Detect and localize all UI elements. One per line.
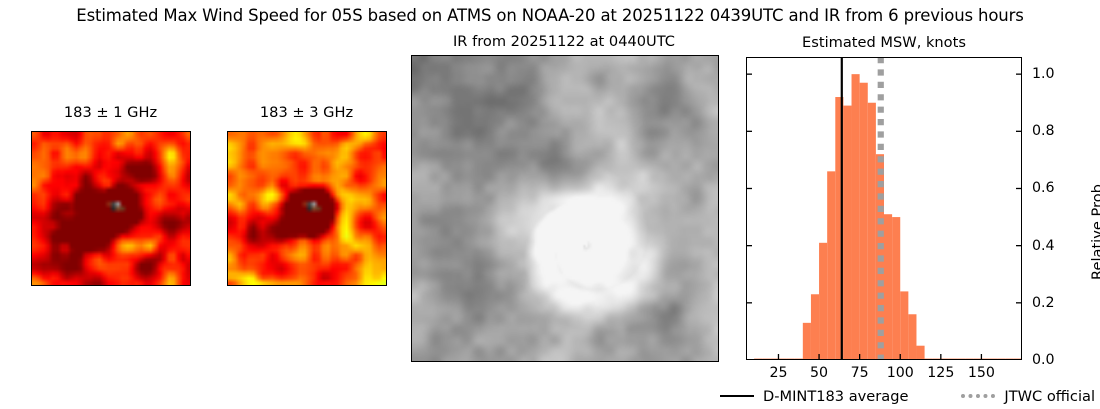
histogram-title: Estimated MSW, knots bbox=[746, 34, 1022, 51]
x-tick-label: 25 bbox=[769, 365, 787, 381]
y-tick-label: 0.2 bbox=[1032, 295, 1055, 311]
y-tick-label: 0.0 bbox=[1032, 352, 1055, 368]
solid-line-swatch-icon bbox=[720, 395, 754, 397]
legend-label-dmint183: D-MINT183 average bbox=[763, 388, 908, 405]
msw-histogram-plot bbox=[746, 57, 1022, 360]
figure-canvas: Estimated Max Wind Speed for 05S based o… bbox=[0, 0, 1100, 409]
microwave-1-title: 183 ± 1 GHz bbox=[31, 104, 190, 121]
legend-label-jtwc: JTWC official bbox=[1004, 388, 1095, 405]
microwave-183p1-image-panel bbox=[31, 131, 191, 286]
microwave-2-title: 183 ± 3 GHz bbox=[227, 104, 386, 121]
infrared-panel-title: IR from 20251122 at 0440UTC bbox=[411, 33, 717, 50]
infrared-image-panel bbox=[411, 55, 719, 362]
microwave-1-canvas bbox=[32, 132, 190, 285]
legend-entry-dmint183: D-MINT183 average bbox=[720, 388, 908, 405]
y-tick-label: 0.4 bbox=[1032, 238, 1055, 254]
figure-suptitle: Estimated Max Wind Speed for 05S based o… bbox=[0, 6, 1100, 25]
histogram-axes-frame bbox=[746, 57, 1022, 360]
histogram-y-axis-label: Relative Prob bbox=[1089, 184, 1100, 280]
infrared-canvas bbox=[412, 56, 718, 361]
microwave-2-canvas bbox=[228, 132, 386, 285]
x-tick-label: 100 bbox=[887, 365, 914, 381]
x-tick-label: 75 bbox=[851, 365, 869, 381]
y-tick-label: 1.0 bbox=[1032, 66, 1055, 82]
legend-entry-jtwc: JTWC official bbox=[961, 388, 1095, 405]
dotted-line-swatch-icon bbox=[961, 394, 995, 398]
x-tick-label: 150 bbox=[968, 365, 995, 381]
x-tick-label: 125 bbox=[927, 365, 954, 381]
y-tick-label: 0.6 bbox=[1032, 180, 1055, 196]
x-tick-label: 50 bbox=[810, 365, 828, 381]
y-tick-label: 0.8 bbox=[1032, 123, 1055, 139]
microwave-183p3-image-panel bbox=[227, 131, 387, 286]
figure-legend: D-MINT183 average JTWC official bbox=[720, 386, 1095, 406]
